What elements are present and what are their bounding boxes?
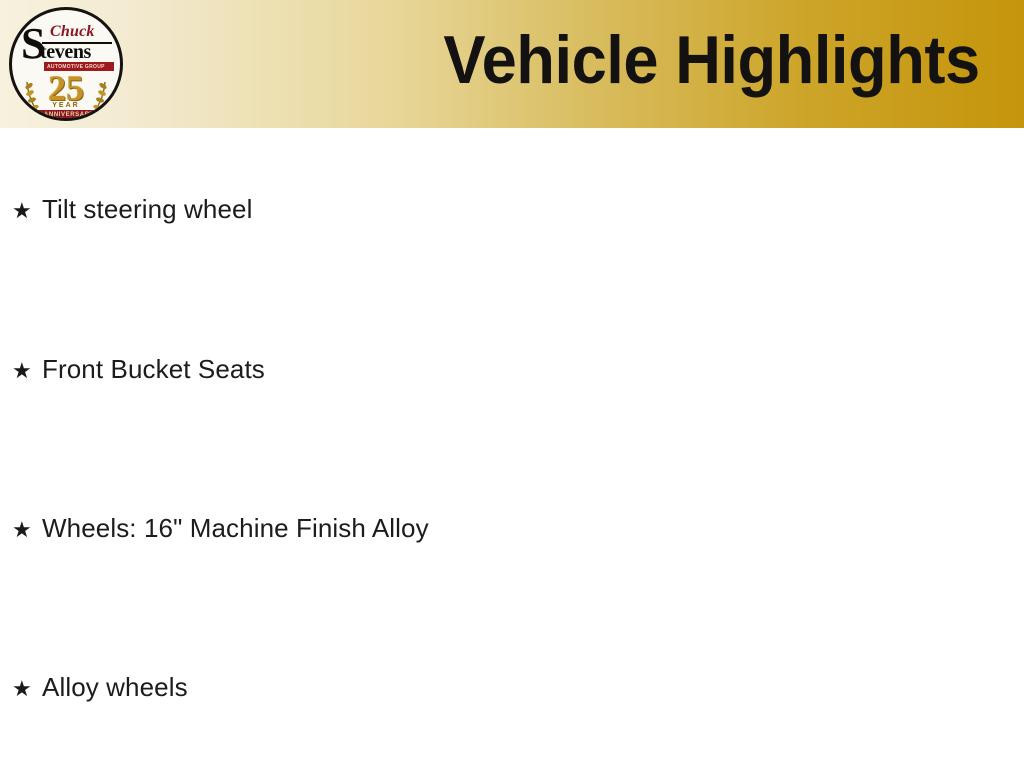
list-item-label: Alloy wheels — [42, 674, 188, 700]
list-item: ★ Tilt steering wheel — [12, 196, 252, 223]
slide-body: ★ Tilt steering wheel ★ Front Bucket Sea… — [0, 128, 1024, 768]
star-bullet-icon: ★ — [12, 679, 42, 701]
logo-inner: S Chuck tevens AUTOMOTIVE GROUP 25 YEAR … — [12, 10, 120, 118]
star-bullet-icon: ★ — [12, 520, 42, 542]
dealership-logo: S Chuck tevens AUTOMOTIVE GROUP 25 YEAR … — [9, 7, 123, 121]
list-item-label: Front Bucket Seats — [42, 356, 265, 382]
page-title: Vehicle Highlights — [444, 26, 980, 94]
logo-anniversary-number: 25 — [12, 70, 120, 106]
list-item: ★ Front Bucket Seats — [12, 356, 265, 383]
list-item: ★ Alloy wheels — [12, 674, 188, 701]
list-item: ★ Wheels: 16" Machine Finish Alloy — [12, 515, 429, 542]
logo-anniversary-label: ANNIVERSARY — [36, 110, 102, 120]
logo-year-label: YEAR — [12, 102, 120, 109]
slide-header: S Chuck tevens AUTOMOTIVE GROUP 25 YEAR … — [0, 0, 1024, 128]
star-bullet-icon: ★ — [12, 201, 42, 223]
logo-last-name: tevens — [40, 42, 91, 62]
list-item-label: Tilt steering wheel — [42, 196, 252, 222]
list-item-label: Wheels: 16" Machine Finish Alloy — [42, 515, 429, 541]
star-bullet-icon: ★ — [12, 361, 42, 383]
logo-anniversary-banner: ANNIVERSARY — [36, 110, 102, 120]
logo-first-name: Chuck — [50, 24, 95, 40]
